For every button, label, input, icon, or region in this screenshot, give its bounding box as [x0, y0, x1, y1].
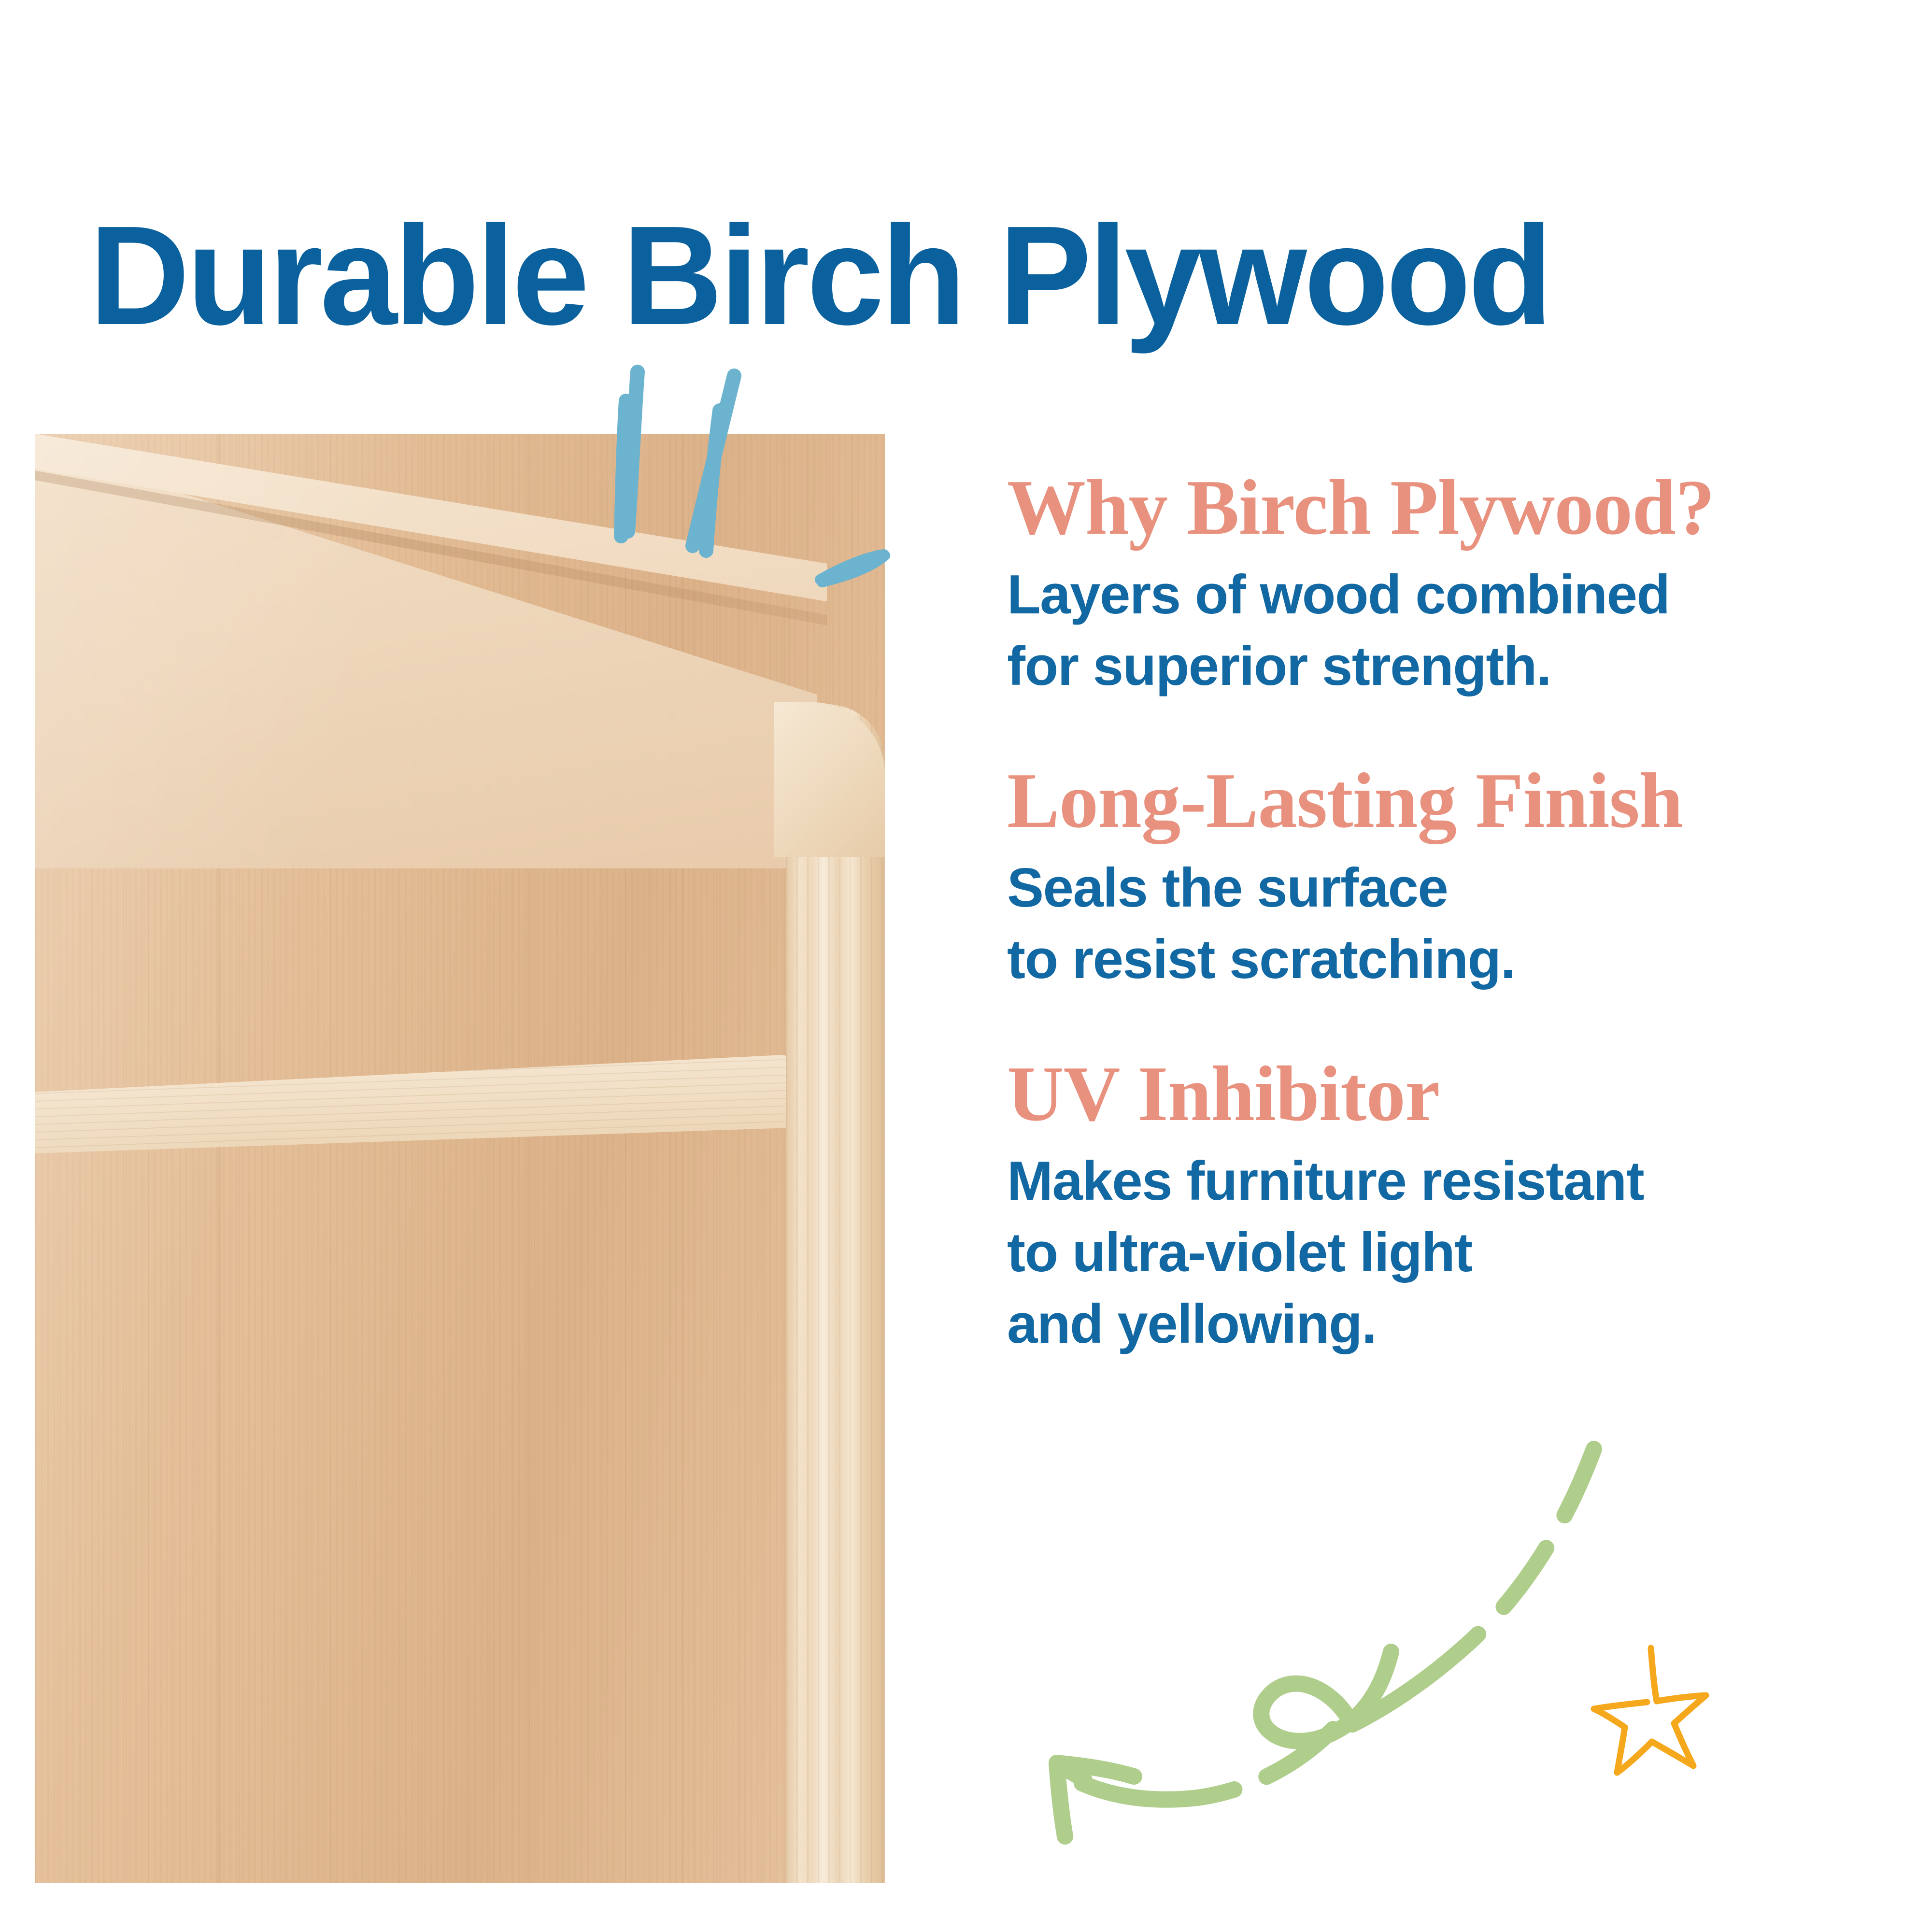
feature-body: Seals the surface to resist scratching. [1007, 852, 1886, 995]
infographic-canvas: Durable Birch Plywood [0, 0, 1932, 1932]
feature-item-uv-inhibitor: UV Inhibitor Makes furniture resistant t… [1007, 1052, 1886, 1360]
feature-list: Why Birch Plywood? Layers of wood combin… [1007, 466, 1886, 1361]
feature-body-line: Seals the surface [1007, 852, 1886, 924]
feature-body: Layers of wood combined for superior str… [1007, 559, 1886, 702]
feature-body-line: to resist scratching. [1007, 924, 1886, 995]
feature-body: Makes furniture resistant to ultra-viole… [1007, 1146, 1886, 1361]
feature-body-line: Makes furniture resistant [1007, 1146, 1886, 1217]
product-photo-birch-plywood-corner [35, 434, 885, 1883]
feature-heading: Long-Lasting Finish [1007, 759, 1886, 843]
page-title: Durable Birch Plywood [89, 205, 1850, 346]
feature-body-line: for superior strength. [1007, 631, 1886, 702]
photo-side-board-plies [786, 704, 885, 1883]
feature-item-why-birch-plywood: Why Birch Plywood? Layers of wood combin… [1007, 466, 1886, 702]
feature-body-line: and yellowing. [1007, 1289, 1886, 1360]
arrow-left-curved-icon [995, 1439, 1623, 1845]
feature-heading: Why Birch Plywood? [1007, 466, 1886, 550]
feature-heading: UV Inhibitor [1007, 1052, 1886, 1136]
feature-body-line: Layers of wood combined [1007, 559, 1886, 631]
feature-body-line: to ultra-violet light [1007, 1217, 1886, 1289]
star-icon [1579, 1628, 1734, 1782]
feature-item-long-lasting-finish: Long-Lasting Finish Seals the surface to… [1007, 759, 1886, 995]
